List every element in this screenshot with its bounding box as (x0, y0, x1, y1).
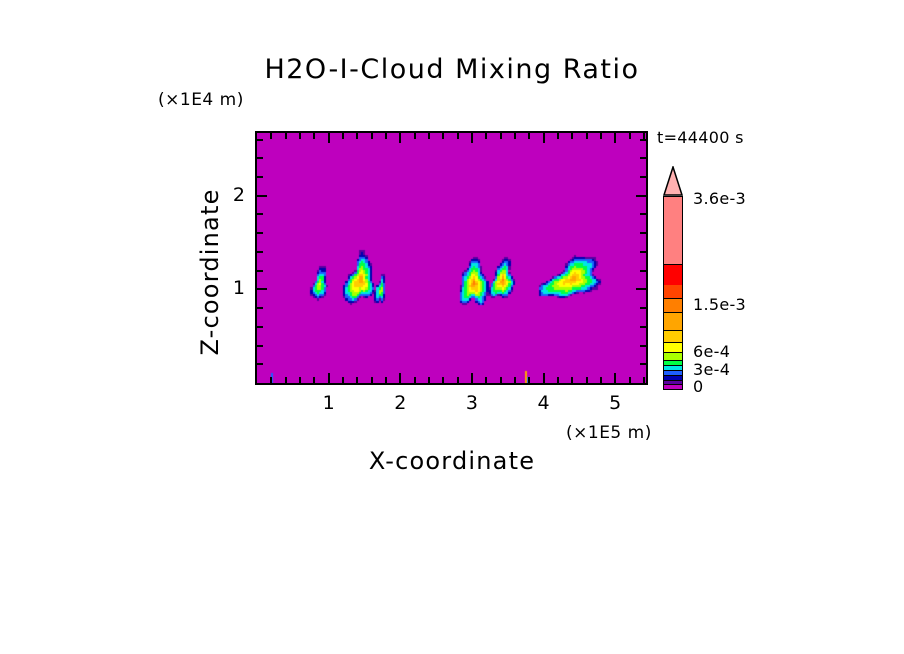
colorbar-tick-label: 6e-4 (693, 342, 730, 361)
x-tick-bottom (543, 373, 545, 383)
colorbar-band (664, 197, 682, 265)
x-tick-top (457, 133, 459, 139)
x-tick-top (485, 133, 487, 139)
x-tick-top (428, 133, 430, 139)
colorbar-tick-label: 1.5e-3 (693, 295, 746, 314)
y-tick-left (257, 232, 263, 234)
x-tick-bottom (471, 373, 473, 383)
colorbar-bands (663, 196, 683, 390)
contour-field (257, 133, 646, 383)
x-tick-bottom (528, 377, 530, 383)
y-tick-left (257, 270, 263, 272)
y-tick-label: 1 (215, 277, 245, 299)
x-tick-top (629, 133, 631, 139)
x-tick-top (414, 133, 416, 139)
y-axis-title: Z-coordinate (196, 52, 224, 492)
colorbar-band (664, 331, 682, 343)
y-tick-left (257, 288, 267, 290)
x-tick-top (313, 133, 315, 139)
x-tick-bottom (428, 377, 430, 383)
x-tick-top (600, 133, 602, 139)
x-tick-top (586, 133, 588, 139)
x-tick-bottom (643, 377, 645, 383)
x-tick-bottom (457, 377, 459, 383)
x-tick-top (299, 133, 301, 139)
x-tick-top (471, 133, 473, 143)
timestamp-annotation: t=44400 s (657, 128, 744, 147)
x-tick-top (270, 133, 272, 139)
x-tick-bottom (514, 377, 516, 383)
x-tick-label: 3 (452, 392, 492, 414)
colorbar-tick-label: 3e-4 (693, 360, 730, 379)
x-tick-top (356, 133, 358, 139)
x-tick-top (543, 133, 545, 143)
x-tick-top (285, 133, 287, 139)
x-tick-bottom (328, 373, 330, 383)
x-tick-top (514, 133, 516, 139)
plot-area (255, 131, 648, 385)
x-tick-bottom (270, 377, 272, 383)
y-tick-left (257, 195, 267, 197)
y-tick-right (640, 345, 646, 347)
x-tick-label: 2 (380, 392, 420, 414)
x-tick-top (614, 133, 616, 143)
colorbar-band (664, 385, 682, 389)
y-tick-right (636, 195, 646, 197)
colorbar-band (664, 285, 682, 299)
x-axis-unit-label: (×1E5 m) (566, 423, 652, 443)
x-tick-top (571, 133, 573, 139)
y-tick-left (257, 363, 263, 365)
x-tick-label: 5 (595, 392, 635, 414)
y-tick-right (640, 326, 646, 328)
x-tick-top (528, 133, 530, 139)
x-tick-bottom (285, 377, 287, 383)
y-tick-left (257, 157, 263, 159)
x-tick-top (500, 133, 502, 139)
x-tick-top (342, 133, 344, 139)
y-tick-right (640, 176, 646, 178)
x-tick-bottom (614, 373, 616, 383)
y-tick-right (640, 251, 646, 253)
page-title: H2O-I-Cloud Mixing Ratio (0, 54, 904, 85)
colorbar-band (664, 313, 682, 331)
colorbar-arrow-icon (663, 166, 683, 196)
x-axis-title: X-coordinate (0, 447, 904, 475)
y-tick-left (257, 176, 263, 178)
x-tick-bottom (414, 377, 416, 383)
y-tick-right (640, 139, 646, 141)
x-tick-bottom (385, 377, 387, 383)
colorbar-band (664, 265, 682, 285)
x-tick-bottom (399, 373, 401, 383)
colorbar (663, 166, 683, 390)
x-tick-bottom (356, 377, 358, 383)
x-tick-bottom (629, 377, 631, 383)
x-tick-top (399, 133, 401, 143)
x-tick-bottom (571, 377, 573, 383)
y-tick-left (257, 139, 263, 141)
colorbar-tick-label: 0 (693, 377, 703, 396)
x-tick-bottom (342, 377, 344, 383)
y-tick-right (640, 157, 646, 159)
y-tick-right (640, 213, 646, 215)
y-tick-right (640, 270, 646, 272)
x-tick-bottom (371, 377, 373, 383)
colorbar-band (664, 299, 682, 313)
x-tick-bottom (500, 377, 502, 383)
figure-canvas: H2O-I-Cloud Mixing Ratio (×1E4 m) (×1E5 … (0, 0, 904, 654)
y-tick-left (257, 345, 263, 347)
y-tick-left (257, 251, 263, 253)
y-tick-left (257, 326, 263, 328)
x-tick-top (557, 133, 559, 139)
x-tick-top (442, 133, 444, 139)
x-tick-top (328, 133, 330, 143)
y-tick-right (636, 288, 646, 290)
y-tick-left (257, 307, 263, 309)
y-tick-right (640, 363, 646, 365)
y-tick-right (640, 307, 646, 309)
y-tick-label: 2 (215, 184, 245, 206)
y-tick-right (640, 232, 646, 234)
x-tick-top (371, 133, 373, 139)
x-tick-bottom (557, 377, 559, 383)
x-tick-bottom (313, 377, 315, 383)
x-tick-top (385, 133, 387, 139)
colorbar-tick-label: 3.6e-3 (693, 189, 746, 208)
x-tick-label: 1 (309, 392, 349, 414)
y-tick-left (257, 213, 263, 215)
x-tick-label: 4 (524, 392, 564, 414)
x-tick-bottom (442, 377, 444, 383)
x-tick-bottom (586, 377, 588, 383)
x-tick-bottom (600, 377, 602, 383)
x-tick-bottom (485, 377, 487, 383)
x-tick-bottom (299, 377, 301, 383)
